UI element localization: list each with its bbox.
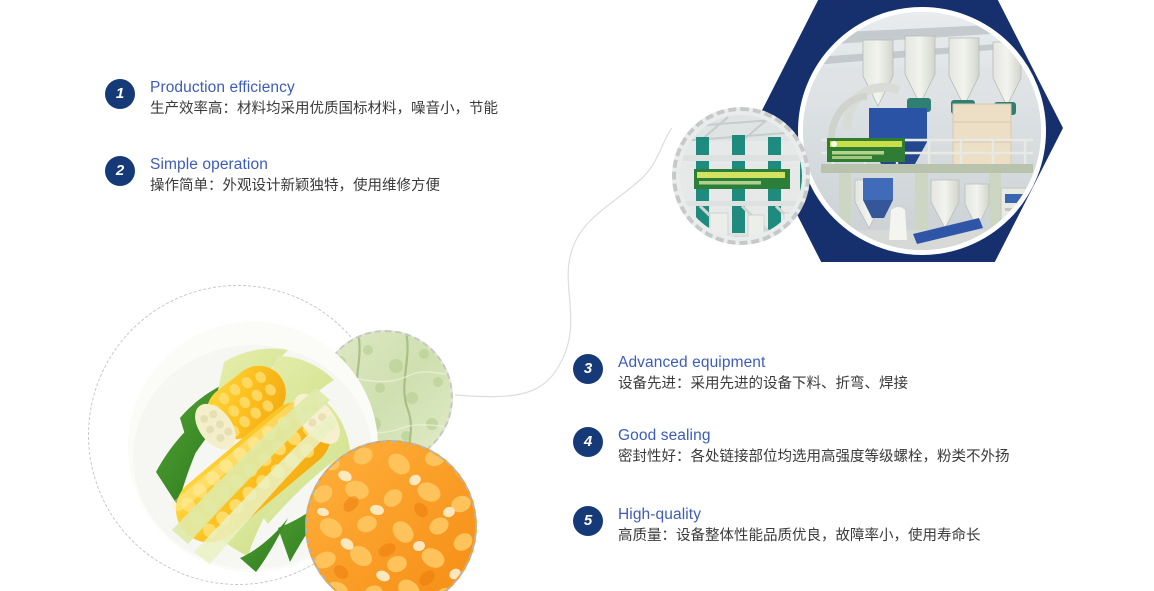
feature-title-1: Production efficiency [150, 78, 498, 97]
feature-item-3[interactable]: 3 Advanced equipment 设备先进：采用先进的设备下料、折弯、焊… [573, 353, 908, 394]
milling-plant-photo-inner [803, 12, 1041, 250]
feature-text-4: Good sealing 密封性好：各处链接部位均选用高强度等级螺栓，粉类不外扬 [618, 426, 1010, 467]
feature-text-5: High-quality 高质量：设备整体性能品质优良，故障率小，使用寿命长 [618, 505, 981, 546]
feature-desc-5: 高质量：设备整体性能品质优良，故障率小，使用寿命长 [618, 526, 981, 546]
feature-title-5: High-quality [618, 505, 981, 524]
feature-desc-3: 设备先进：采用先进的设备下料、折弯、焊接 [618, 374, 908, 394]
corn-grits-photo [305, 440, 477, 591]
product-advantages-banner: 1 Production efficiency 生产效率高：材料均采用优质国标材… [0, 0, 1154, 591]
feature-desc-4: 密封性好：各处链接部位均选用高强度等级螺栓，粉类不外扬 [618, 447, 1010, 467]
feature-item-4[interactable]: 4 Good sealing 密封性好：各处链接部位均选用高强度等级螺栓，粉类不… [573, 426, 1010, 467]
feature-item-5[interactable]: 5 High-quality 高质量：设备整体性能品质优良，故障率小，使用寿命长 [573, 505, 981, 546]
feature-title-3: Advanced equipment [618, 353, 908, 372]
milling-plant-photo [798, 7, 1046, 255]
feature-badge-2: 2 [105, 156, 135, 186]
feature-badge-5: 5 [573, 506, 603, 536]
feature-title-2: Simple operation [150, 155, 440, 174]
feature-badge-3: 3 [573, 354, 603, 384]
feature-text-2: Simple operation 操作简单：外观设计新颖独特，使用维修方便 [150, 155, 440, 196]
teal-equipment-photo [672, 107, 810, 245]
feature-badge-1: 1 [105, 79, 135, 109]
feature-badge-4: 4 [573, 427, 603, 457]
teal-equipment-photo-inner [680, 115, 802, 237]
feature-desc-2: 操作简单：外观设计新颖独特，使用维修方便 [150, 176, 440, 196]
feature-text-3: Advanced equipment 设备先进：采用先进的设备下料、折弯、焊接 [618, 353, 908, 394]
feature-text-1: Production efficiency 生产效率高：材料均采用优质国标材料，… [150, 78, 498, 119]
feature-item-1[interactable]: 1 Production efficiency 生产效率高：材料均采用优质国标材… [105, 78, 498, 119]
corn-grits-photo-inner [307, 442, 475, 591]
feature-desc-1: 生产效率高：材料均采用优质国标材料，噪音小，节能 [150, 99, 498, 119]
feature-item-2[interactable]: 2 Simple operation 操作简单：外观设计新颖独特，使用维修方便 [105, 155, 440, 196]
feature-title-4: Good sealing [618, 426, 1010, 445]
